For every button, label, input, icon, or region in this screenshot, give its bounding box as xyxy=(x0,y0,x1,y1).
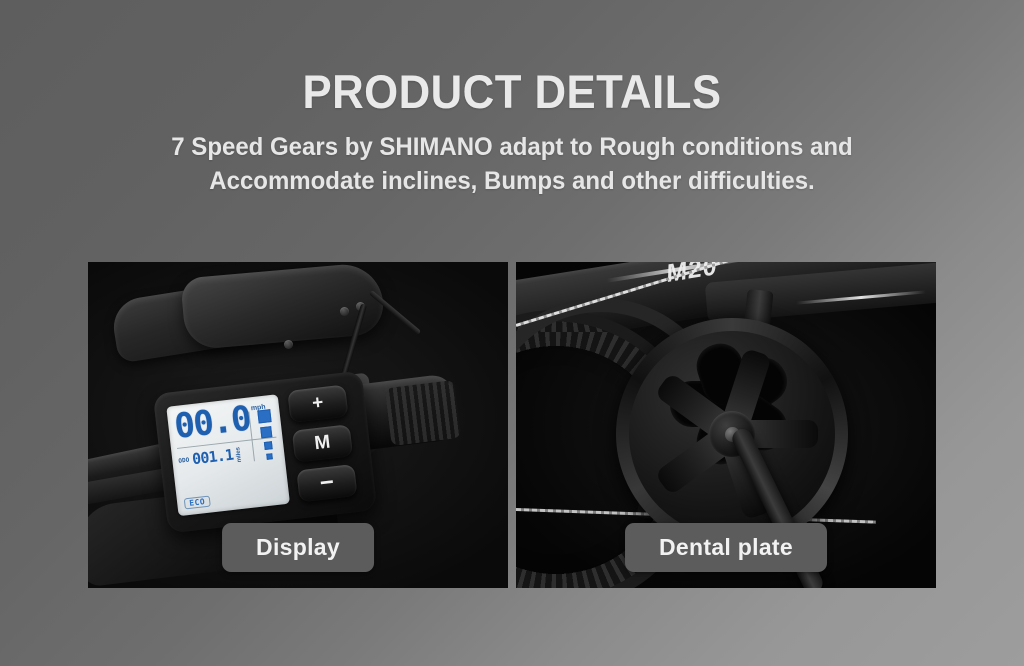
assist-bar xyxy=(257,409,271,423)
assist-bar xyxy=(266,453,273,460)
subtitle-line-2: Accommodate inclines, Bumps and other di… xyxy=(20,165,1003,199)
lcd-odometer-unit: miles xyxy=(235,446,243,462)
lcd-screen: 00.0 mph ODO 001.1 miles ECO xyxy=(166,394,290,516)
display-housing: 00.0 mph ODO 001.1 miles ECO + M xyxy=(153,371,377,534)
product-detail-panels: 00.0 mph ODO 001.1 miles ECO + M xyxy=(88,262,936,588)
chainring-panel-caption: Dental plate xyxy=(625,523,827,572)
grip-texture xyxy=(385,380,462,446)
plus-button[interactable]: + xyxy=(287,385,348,423)
page-subtitle: 7 Speed Gears by SHIMANO adapt to Rough … xyxy=(20,131,1003,199)
assist-bar xyxy=(260,426,272,438)
screw-icon xyxy=(340,307,349,316)
display-photo-panel: 00.0 mph ODO 001.1 miles ECO + M xyxy=(88,262,508,588)
mode-button[interactable]: M xyxy=(292,424,353,462)
screw-icon xyxy=(284,340,293,349)
lcd-eco-badge: ECO xyxy=(184,496,211,510)
assist-bar xyxy=(263,441,272,450)
lcd-odometer-label: ODO xyxy=(178,456,190,464)
page-title: PRODUCT DETAILS xyxy=(36,68,988,115)
subtitle-line-1: 7 Speed Gears by SHIMANO adapt to Rough … xyxy=(20,131,1003,165)
display-panel-caption: Display xyxy=(222,523,374,572)
chainring-photo-panel: M20 Dental plate xyxy=(516,262,936,588)
minus-button[interactable]: − xyxy=(296,464,357,502)
lcd-assist-level-bars xyxy=(248,409,279,462)
lcd-odometer-value: 001.1 xyxy=(191,446,234,469)
lcd-speed-value: 00.0 xyxy=(173,403,252,444)
page-header: PRODUCT DETAILS 7 Speed Gears by SHIMANO… xyxy=(0,0,1024,199)
display-button-group: + M − xyxy=(287,384,362,510)
